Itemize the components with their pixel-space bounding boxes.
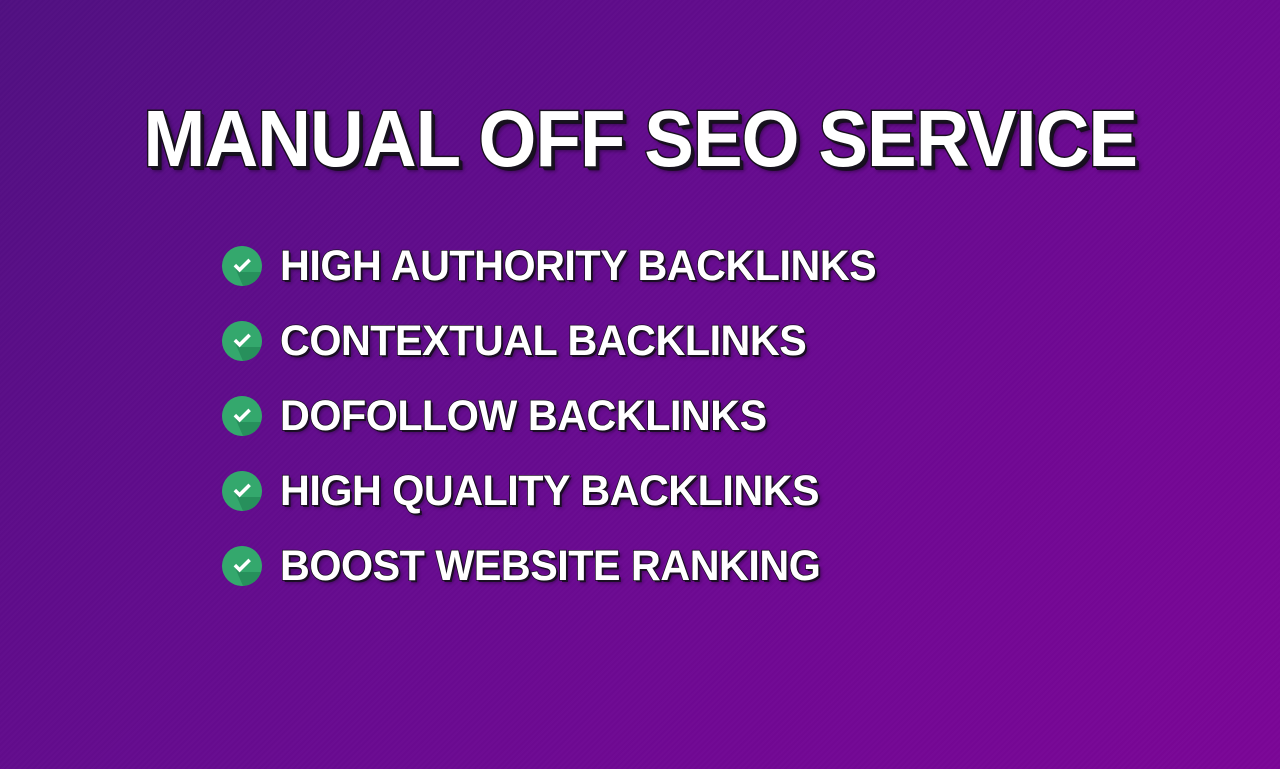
promo-poster: MANUAL OFF SEO SERVICE HIGH AUTHORITY BA… [0, 0, 1280, 769]
list-item: CONTEXTUAL BACKLINKS [222, 315, 1122, 367]
feature-label: DOFOLLOW BACKLINKS [280, 392, 767, 440]
check-circle-icon [222, 246, 262, 286]
feature-label: HIGH AUTHORITY BACKLINKS [280, 242, 876, 290]
list-item: HIGH AUTHORITY BACKLINKS [222, 240, 1122, 292]
feature-label: HIGH QUALITY BACKLINKS [280, 467, 819, 515]
list-item: HIGH QUALITY BACKLINKS [222, 465, 1122, 517]
headline-container: MANUAL OFF SEO SERVICE [0, 99, 1280, 179]
feature-label: BOOST WEBSITE RANKING [280, 542, 820, 590]
check-circle-icon [222, 471, 262, 511]
list-item: BOOST WEBSITE RANKING [222, 540, 1122, 592]
check-circle-icon [222, 321, 262, 361]
check-circle-icon [222, 396, 262, 436]
page-title: MANUAL OFF SEO SERVICE [143, 99, 1137, 179]
list-item: DOFOLLOW BACKLINKS [222, 390, 1122, 442]
check-circle-icon [222, 546, 262, 586]
feature-label: CONTEXTUAL BACKLINKS [280, 317, 806, 365]
feature-list: HIGH AUTHORITY BACKLINKS CONTEXTUAL BACK… [222, 240, 1122, 615]
